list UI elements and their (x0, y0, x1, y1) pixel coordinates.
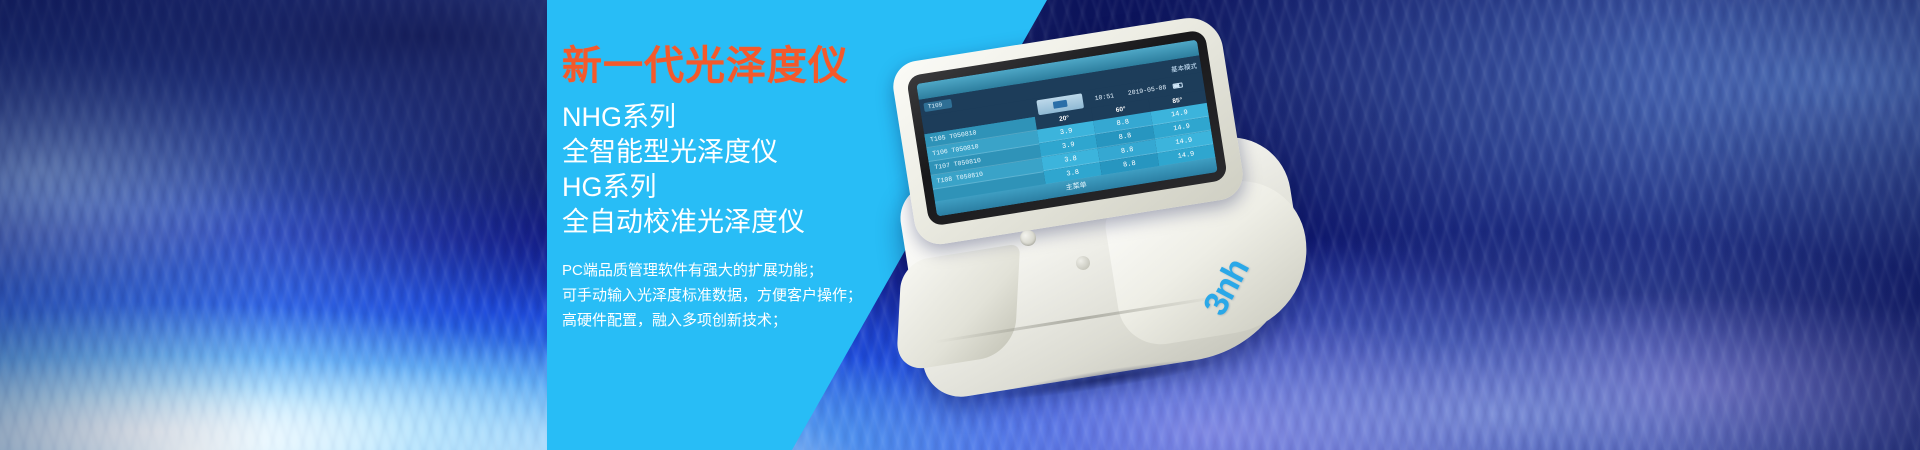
screen-clock: 10:51 (1094, 92, 1114, 102)
product-banner: 新一代光泽度仪 NHG系列 全智能型光泽度仪 HG系列 全自动校准光泽度仪 PC… (0, 0, 1920, 450)
gloss-meter-device: T109 基本模式 10:51 2019-05-08 T105 T050810 … (880, 18, 1310, 418)
screen-mode-label: 基本模式 (1170, 59, 1197, 73)
screen-date: 2019-05-08 (1127, 83, 1167, 96)
battery-icon (1172, 82, 1183, 89)
screen-sample-tab[interactable]: T109 (923, 99, 952, 112)
